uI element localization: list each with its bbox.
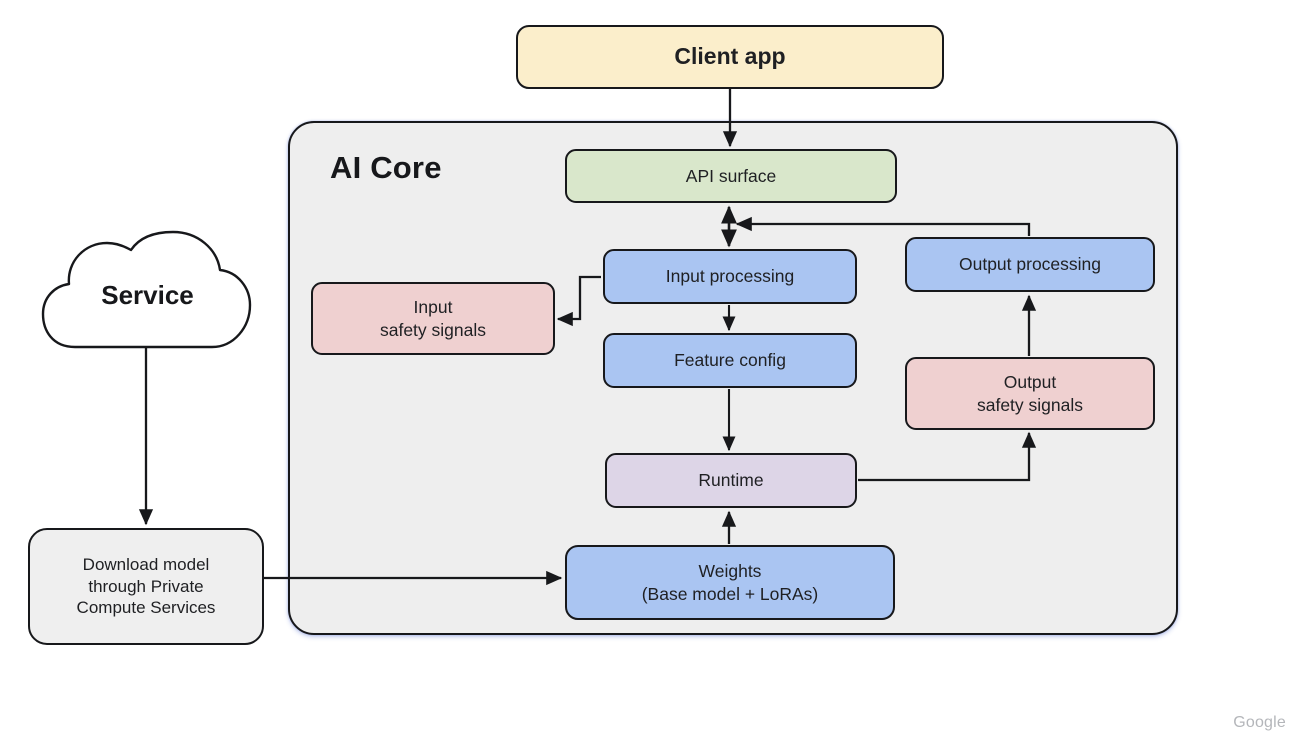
node-runtime[interactable]: Runtime bbox=[605, 453, 857, 508]
node-download-model[interactable]: Download model through Private Compute S… bbox=[28, 528, 264, 645]
node-output-safety-signals[interactable]: Output safety signals bbox=[905, 357, 1155, 430]
node-client-app[interactable]: Client app bbox=[516, 25, 944, 89]
node-weights[interactable]: Weights (Base model + LoRAs) bbox=[565, 545, 895, 620]
google-watermark: Google bbox=[1233, 714, 1286, 732]
node-input-processing[interactable]: Input processing bbox=[603, 249, 857, 304]
node-output-processing[interactable]: Output processing bbox=[905, 237, 1155, 292]
node-input-safety-signals[interactable]: Input safety signals bbox=[311, 282, 555, 355]
node-feature-config[interactable]: Feature config bbox=[603, 333, 857, 388]
node-api-surface[interactable]: API surface bbox=[565, 149, 897, 203]
service-cloud-label: Service bbox=[45, 280, 250, 311]
diagram-canvas: AI Core Service bbox=[0, 0, 1304, 756]
